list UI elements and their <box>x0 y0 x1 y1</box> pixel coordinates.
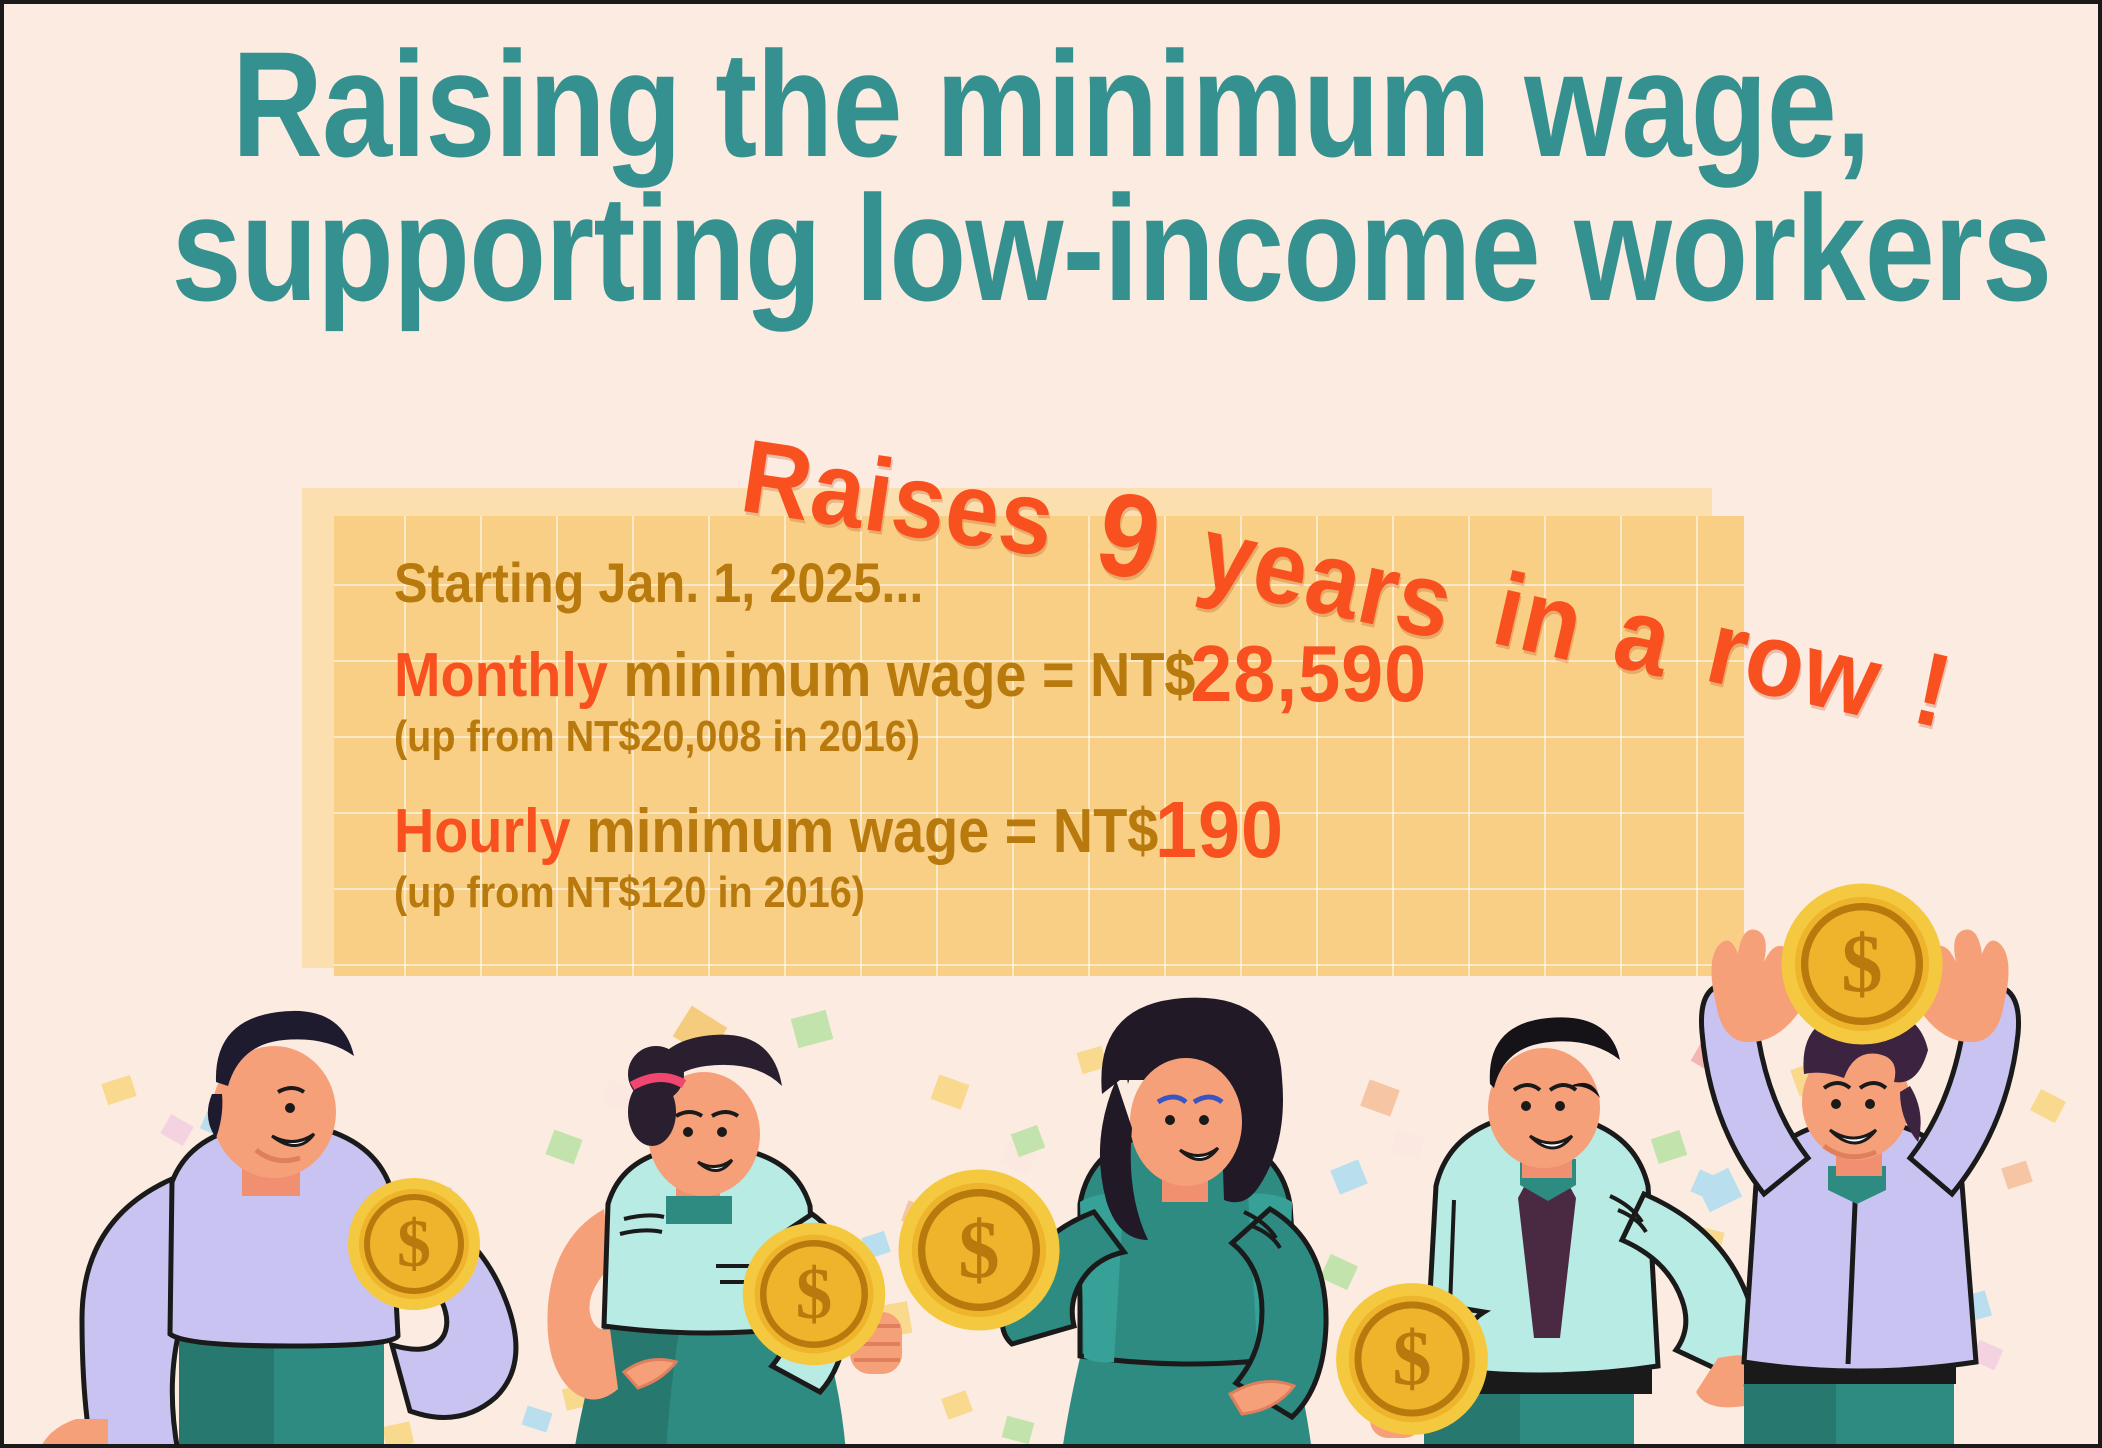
banner-word-1: 9 <box>1087 464 1172 609</box>
banner-word-4: a <box>1604 573 1684 701</box>
infographic-poster: Raising the minimum wage, supporting low… <box>0 0 2102 1448</box>
hourly-descriptor: minimum wage = NT$ <box>571 797 1159 866</box>
banner-word-6: ! <box>1904 630 1963 753</box>
title-line-2: supporting low-income workers <box>172 176 1931 320</box>
person-woman-blazer-with-coin <box>898 998 1326 1448</box>
confetti-group <box>101 1006 2066 1448</box>
hourly-wage-row: Hourly minimum wage = NT$190 <box>394 783 1609 867</box>
person-man-celebrating-arms-up <box>1701 883 2018 1448</box>
hourly-amount: 190 <box>1155 788 1284 872</box>
person-woman-bun-with-coin <box>547 1035 902 1448</box>
person-man-with-coin-left <box>38 1011 516 1448</box>
person-man-tie-with-coin <box>1336 1017 1790 1448</box>
banner-word-3: in <box>1483 550 1594 685</box>
monthly-note: (up from NT$20,008 in 2016) <box>394 713 1609 761</box>
page-title: Raising the minimum wage, supporting low… <box>4 32 2098 320</box>
hourly-note: (up from NT$120 in 2016) <box>394 869 1609 917</box>
title-line-1: Raising the minimum wage, <box>172 32 1931 176</box>
monthly-descriptor: minimum wage = NT$ <box>608 641 1196 710</box>
monthly-label: Monthly <box>394 641 608 710</box>
hourly-label: Hourly <box>394 797 571 866</box>
